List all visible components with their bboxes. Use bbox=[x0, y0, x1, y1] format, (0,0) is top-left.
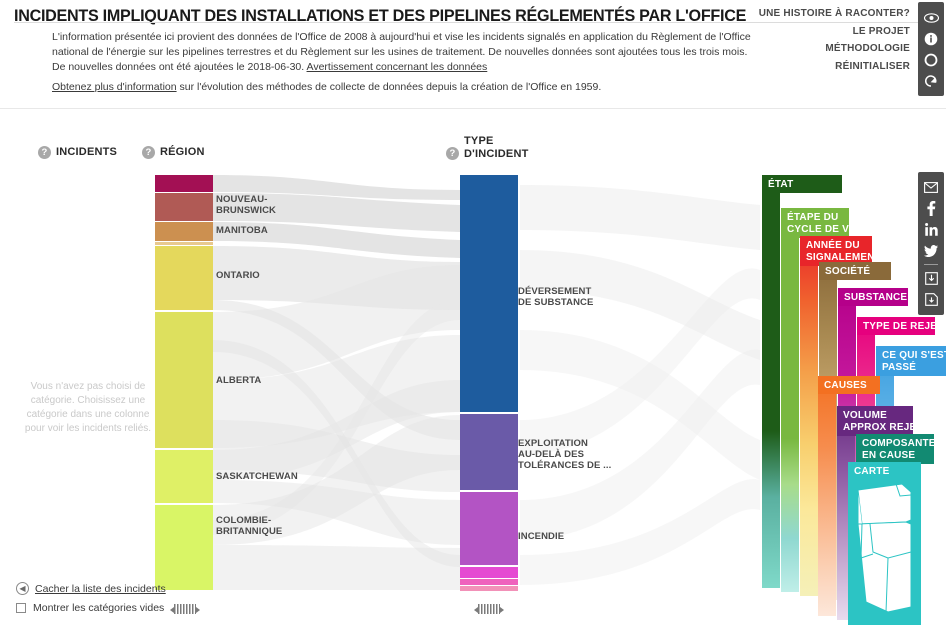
type-segment-exploitation[interactable] bbox=[460, 414, 518, 490]
type-segment-incendie[interactable] bbox=[460, 492, 518, 565]
type-segment-4[interactable] bbox=[460, 579, 518, 585]
collapsed-header-ce-qui-sest-passe[interactable]: CE QUI S'ESTPASSÉ bbox=[876, 346, 946, 376]
chevron-left-icon: ◀ bbox=[16, 582, 29, 595]
type-segment-deversement-de-substance[interactable] bbox=[460, 175, 518, 412]
region-segment-alberta[interactable] bbox=[155, 312, 213, 448]
region-column-resize-grip[interactable] bbox=[174, 604, 196, 614]
type-segment-3[interactable] bbox=[460, 567, 518, 578]
type-segment-5[interactable] bbox=[460, 586, 518, 591]
collapsed-header-type-rejet[interactable]: TYPE DE REJET bbox=[857, 317, 935, 335]
collapsed-header-volume-approx-rejete[interactable]: VOLUMEAPPROX REJETÉ bbox=[837, 406, 913, 436]
checkbox-icon[interactable] bbox=[16, 603, 26, 613]
region-segment-3[interactable] bbox=[155, 242, 213, 245]
collapsed-strip-annee-signalement[interactable] bbox=[800, 236, 818, 596]
region-segment-ontario[interactable] bbox=[155, 246, 213, 310]
type-column-resize-grip[interactable] bbox=[478, 604, 500, 614]
collapsed-header-composantes-en-cause[interactable]: COMPOSANTESEN CAUSE bbox=[856, 434, 934, 464]
collapsed-header-substance[interactable]: SUBSTANCE bbox=[838, 288, 908, 306]
region-segment-colombie-britannique[interactable] bbox=[155, 505, 213, 590]
collapsed-header-carte[interactable]: CARTE bbox=[848, 462, 918, 480]
collapsed-header-etat[interactable]: ÉTAT bbox=[762, 175, 842, 193]
region-segment-saskatchewan[interactable] bbox=[155, 450, 213, 503]
collapsed-strip-etat[interactable] bbox=[762, 175, 780, 588]
region-segment-0[interactable] bbox=[155, 175, 213, 192]
collapsed-header-societe[interactable]: SOCIÉTÉ bbox=[819, 262, 891, 280]
collapsed-header-etape-cycle-vie[interactable]: ÉTAPE DUCYCLE DE VIE bbox=[781, 208, 849, 238]
collapsed-header-causes[interactable]: CAUSES bbox=[818, 376, 880, 394]
collapsed-strip-causes[interactable] bbox=[818, 376, 836, 616]
region-segment-manitoba[interactable] bbox=[155, 222, 213, 241]
collapsed-strip-carte[interactable] bbox=[848, 462, 921, 625]
hide-incident-list-button[interactable]: ◀ Cacher la liste des incidents bbox=[16, 582, 166, 595]
map-thumbnail bbox=[848, 462, 921, 625]
region-segment-nouveau-brunswick[interactable] bbox=[155, 193, 213, 221]
show-empty-categories-toggle[interactable]: Montrer les catégories vides bbox=[16, 602, 164, 614]
collapsed-strip-etape-cycle-vie[interactable] bbox=[781, 208, 799, 592]
hide-incident-list-label: Cacher la liste des incidents bbox=[35, 583, 166, 595]
show-empty-categories-label: Montrer les catégories vides bbox=[33, 602, 164, 614]
